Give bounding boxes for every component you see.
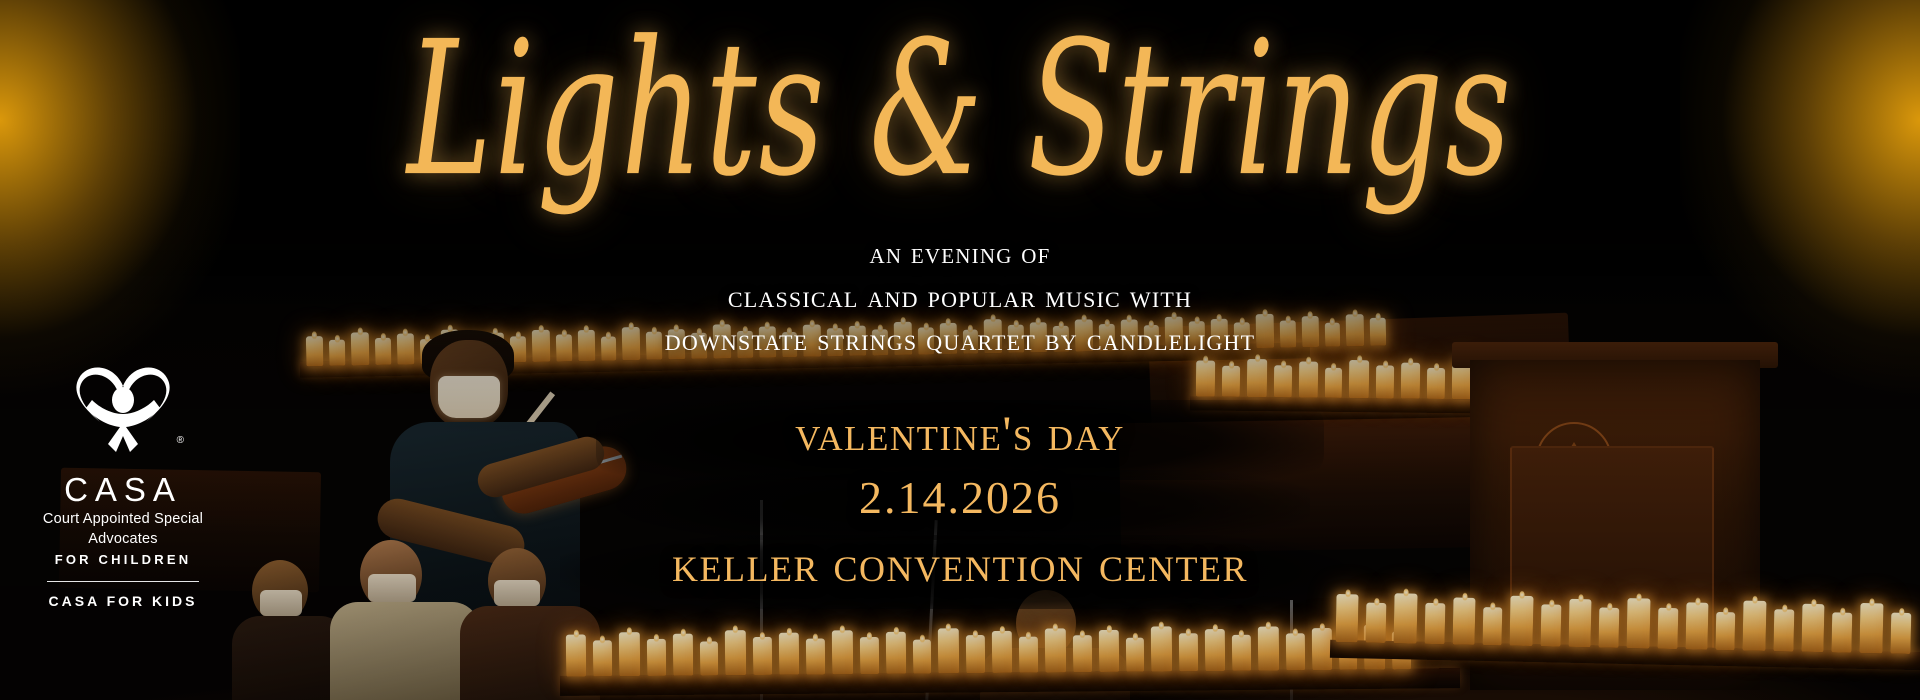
event-subtitle: An Evening of Classical and Popular Musi… [0,232,1920,361]
subtitle-line-2: Classical and Popular Music with [0,275,1920,318]
event-title: Lights & Strings [0,18,1920,204]
registered-trademark-icon: ® [177,435,184,446]
casa-logo: ® CASA Court Appointed Special Advocates… [14,352,232,611]
subtitle-line-3: Downstate Strings Quartet by Candlelight [0,318,1920,361]
event-banner: Lights & Strings An Evening of Classical… [0,0,1920,700]
casa-tagline-second: FOR CHILDREN [14,550,232,570]
casa-program-name: CASA FOR KIDS [14,591,232,611]
event-day: Valentine's Day [560,400,1360,466]
event-venue: Keller Convention Center [560,530,1360,600]
subtitle-line-1: An Evening of [0,232,1920,275]
casa-divider [47,581,199,582]
casa-acronym: CASA [14,472,232,508]
casa-heart-child-icon: ® [64,352,182,464]
event-date: 2.14.2026 [560,466,1360,530]
casa-tagline: Court Appointed Special Advocates [14,509,232,549]
event-details: Valentine's Day 2.14.2026 Keller Convent… [560,400,1360,600]
